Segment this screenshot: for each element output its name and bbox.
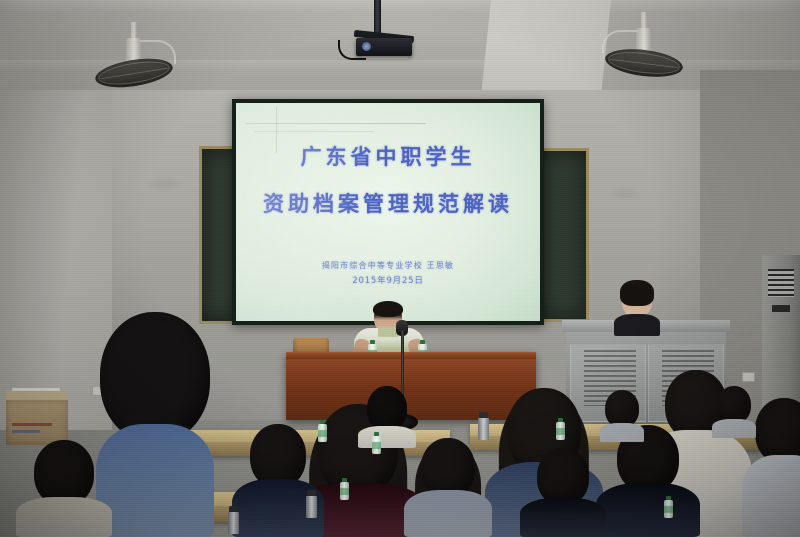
attendee-torso: [358, 426, 416, 448]
attendee-far-b: [712, 386, 756, 438]
attendee-mid-left-a: [232, 424, 324, 537]
ceiling-soffit: [481, 0, 611, 96]
box-label: [12, 423, 52, 426]
fan-cage-line: [100, 68, 168, 80]
bottle-label: [664, 506, 673, 513]
attendee-head: [100, 312, 210, 442]
projection-screen: 广东省中职学生 资助档案管理规范解读 揭阳市综合中等专业学校 王思敏 2015年…: [232, 99, 544, 325]
thermos-body: [306, 496, 317, 518]
attendee-torso: [16, 497, 112, 537]
attendee-torso: [742, 455, 800, 537]
presenter-hair: [373, 301, 403, 317]
attendee-mid-center: [404, 438, 492, 537]
assistant-torso: [614, 314, 660, 336]
bottle-label: [372, 442, 381, 449]
cardboard-box: [6, 399, 68, 445]
attendee-mid-left-b: [16, 440, 112, 537]
attendee-far-a: [600, 390, 644, 442]
bottle-label: [318, 430, 327, 437]
ceiling-fan-left: [86, 22, 182, 92]
bottle-label: [340, 488, 349, 495]
screen-surface: 广东省中职学生 资助档案管理规范解读 揭阳市综合中等专业学校 王思敏 2015年…: [236, 103, 540, 321]
bottle-label: [556, 428, 565, 435]
box-label: [12, 430, 40, 433]
attendee-head: [421, 438, 475, 498]
attendee-torso: [404, 490, 492, 537]
slide-title-line-1: 广东省中职学生: [301, 141, 476, 171]
assistant-hair: [620, 280, 654, 306]
thermos-body: [228, 512, 239, 534]
lecture-hall-photo: 广东省中职学生 资助档案管理规范解读 揭阳市综合中等专业学校 王思敏 2015年…: [0, 0, 800, 537]
thermos-body: [478, 418, 489, 440]
attendee-torso: [600, 423, 644, 442]
attendee-torso: [712, 419, 756, 438]
fan-blades: [93, 54, 174, 92]
fan-cage-line: [610, 59, 678, 68]
slide-date-line: 2015年9月25日: [352, 274, 423, 286]
slide-title-line-2: 资助档案管理规范解读: [263, 188, 513, 218]
ceiling-projector: [352, 0, 438, 62]
ceiling-fan-right: [596, 12, 692, 82]
wall-mark: [150, 180, 180, 188]
projected-slide: 广东省中职学生 资助档案管理规范解读 揭阳市综合中等专业学校 王思敏 2015年…: [236, 103, 540, 321]
attendee-torso: [96, 424, 214, 537]
assistant-person: [614, 278, 660, 330]
attendee-ponytail: [358, 386, 416, 448]
attendee-row2-right: [520, 448, 606, 537]
ac-control-panel: [772, 305, 790, 312]
box-flap: [6, 391, 68, 400]
slide-presenter-line: 揭阳市综合中等专业学校 王思敏: [322, 260, 455, 271]
air-vent-grille: [768, 269, 794, 297]
wall-mark: [612, 190, 638, 197]
attendee-torso: [596, 483, 700, 537]
attendee-torso: [520, 498, 606, 537]
attendee-dark-hair-left: [96, 312, 214, 537]
fan-blades: [604, 45, 685, 80]
